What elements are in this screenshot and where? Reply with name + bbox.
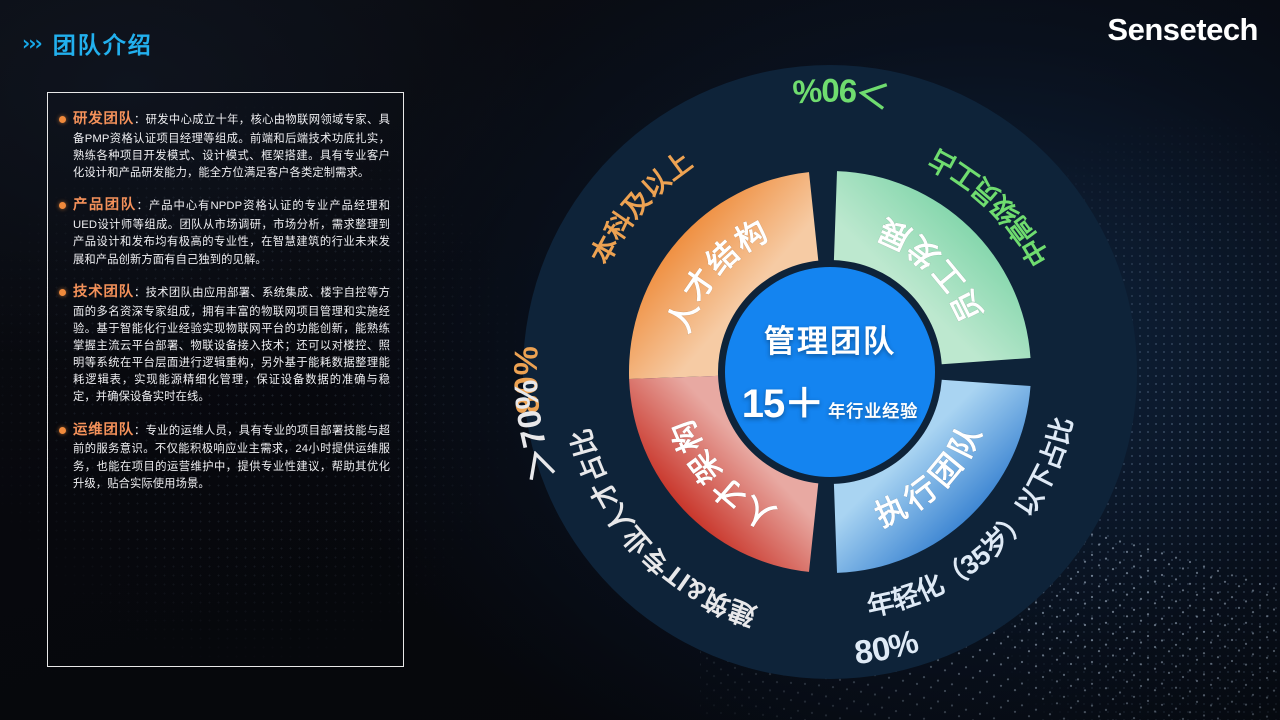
info-item-heading: 技术团队 — [73, 284, 134, 300]
info-item: 产品团队：产品中心有NPDP资格认证的专业产品经理和UED设计师等组成。团队从市… — [59, 195, 390, 268]
info-item-heading: 研发团队 — [73, 111, 134, 127]
info-item-colon: ： — [134, 114, 146, 126]
info-item-heading: 运维团队 — [73, 422, 134, 438]
donut-center-circle — [725, 267, 935, 477]
info-item: 技术团队：技术团队由应用部署、系统集成、楼宇自控等方面的多名资深专家组成，拥有丰… — [59, 282, 390, 407]
brand-logo: Sensetech — [1107, 12, 1258, 48]
chevrons-icon: ››› — [22, 31, 41, 55]
info-item-text: 技术团队由应用部署、系统集成、楼宇自控等方面的多名资深专家组成，拥有丰富的物联网… — [73, 287, 390, 404]
info-panel: 研发团队：研发中心成立十年，核心由物联网领域专家、具备PMP资格认证项目经理等组… — [47, 92, 404, 667]
bullet-icon — [59, 289, 66, 296]
info-item-body: 产品团队：产品中心有NPDP资格认证的专业产品经理和UED设计师等组成。团队从市… — [59, 195, 390, 268]
info-item-colon: ： — [137, 200, 149, 212]
page-title-text: 团队介绍 — [53, 26, 153, 60]
info-item-colon: ： — [134, 287, 146, 299]
bullet-icon — [59, 427, 66, 434]
page-title: ››› 团队介绍 — [22, 26, 153, 60]
info-item: 研发团队：研发中心成立十年，核心由物联网领域专家、具备PMP资格认证项目经理等组… — [59, 109, 390, 182]
info-item-body: 运维团队：专业的运维人员，具有专业的项目部署技能与超前的服务意识。不仅能积极响应… — [59, 420, 390, 493]
slide-canvas: ››› 团队介绍 Sensetech 研发团队：研发中心成立十年，核心由物联网领… — [0, 0, 1280, 720]
info-item-body: 研发团队：研发中心成立十年，核心由物联网领域专家、具备PMP资格认证项目经理等组… — [59, 109, 390, 182]
bullet-icon — [59, 116, 66, 123]
info-item-colon: ： — [134, 425, 146, 437]
info-item: 运维团队：专业的运维人员，具有专业的项目部署技能与超前的服务意识。不仅能积极响应… — [59, 420, 390, 493]
team-donut-chart: 人才结构本科及以上80%员工发展中高级员工占＞90%执行团队年轻化（35岁）以下… — [520, 62, 1140, 682]
info-item-heading: 产品团队 — [73, 197, 137, 213]
info-item-body: 技术团队：技术团队由应用部署、系统集成、楼宇自控等方面的多名资深专家组成，拥有丰… — [59, 282, 390, 407]
segment-percent-employee-development: ＞90% — [791, 72, 891, 115]
